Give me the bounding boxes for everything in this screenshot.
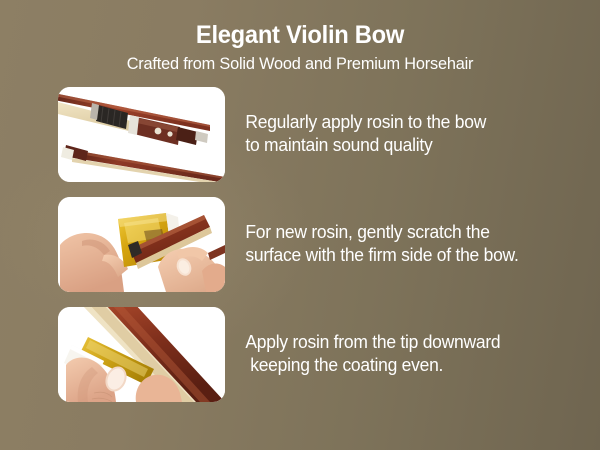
- page-subtitle: Crafted from Solid Wood and Premium Hors…: [12, 54, 588, 74]
- tip-line: to maintain sound quality: [245, 134, 581, 157]
- scratching-rosin-cake-photo: [58, 197, 225, 292]
- applying-rosin-to-bow-photo: [58, 307, 225, 402]
- page-title: Elegant Violin Bow: [15, 21, 585, 49]
- tip-line: For new rosin, gently scratch the: [245, 221, 581, 244]
- list-item: Apply rosin from the tip downward keepin…: [0, 307, 600, 402]
- list-item: For new rosin, gently scratch the surfac…: [0, 197, 600, 292]
- tip-line: keeping the coating even.: [245, 354, 581, 377]
- poster-header: Elegant Violin Bow Crafted from Solid Wo…: [0, 0, 600, 74]
- tip-line: Apply rosin from the tip downward: [245, 331, 581, 354]
- poster-root: Elegant Violin Bow Crafted from Solid Wo…: [0, 0, 600, 450]
- list-item: Regularly apply rosin to the bow to main…: [0, 87, 600, 182]
- tip-text: Apply rosin from the tip downward keepin…: [225, 331, 589, 377]
- tips-list: Regularly apply rosin to the bow to main…: [0, 87, 600, 402]
- tip-text: Regularly apply rosin to the bow to main…: [225, 111, 589, 157]
- tip-text: For new rosin, gently scratch the surfac…: [225, 221, 589, 267]
- tip-line: Regularly apply rosin to the bow: [245, 111, 581, 134]
- tip-line: surface with the firm side of the bow.: [245, 244, 581, 267]
- violin-bow-frog-closeup-photo: [58, 87, 225, 182]
